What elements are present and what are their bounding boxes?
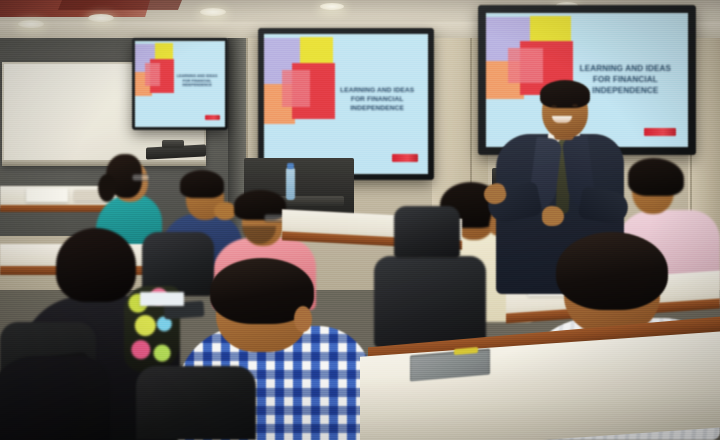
paper-sheets [140,292,184,306]
office-chair [374,256,486,348]
slide-color-block-pink [145,63,160,85]
presentation-slide: LEARNING AND IDEAS FOR FINANCIAL INDEPEN… [135,41,225,127]
presentation-slide: LEARNING AND IDEAS FOR FINANCIAL INDEPEN… [264,34,428,174]
slide-red-brand-logo [392,154,418,162]
downlight-icon [320,3,344,10]
ceiling-red-trim-inner [58,0,182,10]
hair-bun [98,174,116,202]
downlight-icon [200,8,226,16]
ear [294,306,312,332]
office-chair [136,366,256,440]
downlight-icon [18,20,44,28]
presenter-hand-right [542,206,564,226]
eyeglasses-icon [132,174,150,181]
torso [0,356,110,440]
hair [56,228,136,302]
presenter-eye-right [572,104,578,107]
slide-color-block-pink [282,70,310,106]
slide-title: LEARNING AND IDEAS FOR FINANCIAL INDEPEN… [171,74,223,89]
slide-red-brand-logo [644,128,676,135]
presenter-eye-left [551,105,557,108]
presenter-hair [540,80,590,108]
paper-sheets [26,188,68,202]
left-display: LEARNING AND IDEAS FOR FINANCIAL INDEPEN… [132,38,228,130]
av-speaker-mount [162,140,184,148]
audience-member-dark-foreground [0,356,110,440]
seminar-room-photo: LEARNING AND IDEAS FOR FINANCIAL INDEPEN… [0,0,720,440]
hair [556,232,668,310]
office-chair [394,206,460,258]
slide-red-brand-logo [205,115,219,120]
bottle-cap [287,163,294,169]
slide-title: LEARNING AND IDEAS FOR FINANCIAL INDEPEN… [330,87,425,114]
downlight-icon [88,14,114,22]
